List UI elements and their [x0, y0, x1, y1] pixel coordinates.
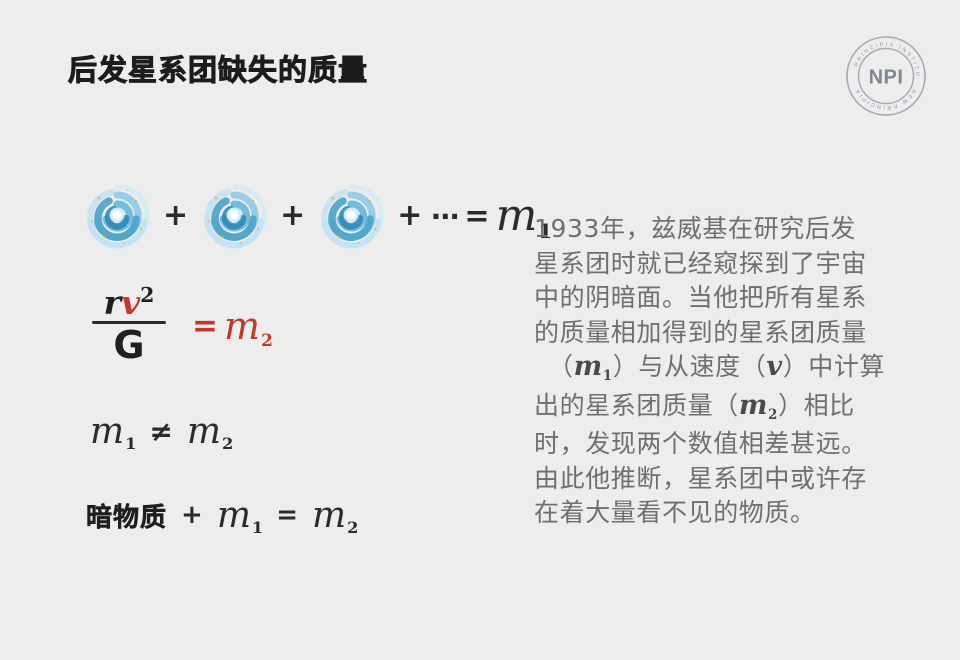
plus-sign-2: + [273, 201, 312, 231]
body-line: 星系团时就已经窥探到了宇宙 [534, 247, 906, 282]
npi-logo-icon: PRINCIPIA INSTITUTE NEW PRINCIPIA NPI [842, 32, 930, 120]
plus-sign-dark: + [167, 500, 217, 530]
ellipsis: ⋯ [429, 200, 462, 233]
mass-m1-symbol: m1 [90, 411, 135, 452]
body-line: （m1）与从速度（v）中计算 [534, 350, 906, 389]
body-line: 由此他推断，星系团中或许存 [534, 462, 906, 497]
inline-mass-m1-symbol: m1 [574, 351, 613, 382]
galaxy-icon [312, 177, 390, 255]
equation-virial-fraction: rv2 G = m2 [78, 274, 518, 378]
body-text-segment: ）与从速度（ [613, 352, 767, 381]
gravitational-constant-symbol: G [113, 324, 144, 367]
body-line: 出的星系团质量（m2）相比 [534, 389, 906, 428]
equation-dark-matter: 暗物质 + m1 = m2 [78, 484, 518, 546]
svg-text:NPI: NPI [869, 67, 904, 89]
exponent-2: 2 [140, 283, 154, 307]
slide-canvas: 后发星系团缺失的质量 PRINCIPIA INSTITUTE NEW PRINC… [0, 0, 960, 660]
paren-open: （ [548, 352, 574, 381]
svg-text:NEW PRINCIPIA: NEW PRINCIPIA [854, 86, 916, 110]
not-equal-sign: ≠ [135, 415, 186, 448]
body-text-segment: ）中计算 [783, 352, 885, 381]
mass-m2-symbol: m2 [187, 411, 232, 452]
plus-sign-1: + [156, 201, 195, 231]
fraction-numerator: rv2 [98, 285, 161, 322]
dark-matter-label: 暗物质 [86, 497, 167, 534]
body-line: 1933年，兹威基在研究后发 [534, 212, 906, 247]
equals-sign-2: = [166, 308, 224, 344]
body-text-column: 1933年，兹威基在研究后发 星系团时就已经窥探到了宇宙 中的阴暗面。当他把所有… [534, 212, 906, 531]
velocity-symbol: v [121, 283, 140, 322]
galaxy-icon [78, 177, 156, 255]
body-text-segment: 出的星系团质量（ [534, 391, 739, 420]
fraction: rv2 G [92, 285, 166, 367]
page-title: 后发星系团缺失的质量 [68, 47, 368, 89]
body-text-segment: ）相比 [778, 391, 855, 420]
inline-velocity-symbol: v [766, 351, 782, 382]
equation-inequality: m1 ≠ m2 [78, 400, 518, 462]
subscript-1: 1 [125, 434, 136, 453]
mass-m1-symbol: m1 [217, 495, 262, 536]
body-line: 的质量相加得到的星系团质量 [534, 316, 906, 351]
subscript-2: 2 [261, 331, 273, 351]
plus-sign-3: + [390, 201, 429, 231]
subscript-2: 2 [222, 434, 233, 453]
subscript-1: 1 [252, 518, 263, 537]
galaxy-icon [195, 177, 273, 255]
body-line: 在着大量看不见的物质。 [534, 496, 906, 531]
body-line: 中的阴暗面。当他把所有星系 [534, 281, 906, 316]
equals-sign-3: = [262, 500, 312, 530]
equation-galaxy-sum: + [78, 168, 518, 264]
inline-mass-m2-symbol: m2 [739, 390, 778, 421]
subscript-2: 2 [347, 518, 358, 537]
equations-column: + [78, 168, 518, 546]
equals-sign-1: = [462, 199, 495, 234]
body-line: 时，发现两个数值相差甚远。 [534, 427, 906, 462]
radius-symbol: r [104, 283, 121, 322]
mass-m2-symbol: m2 [312, 495, 357, 536]
mass-m2-symbol: m2 [224, 304, 272, 348]
